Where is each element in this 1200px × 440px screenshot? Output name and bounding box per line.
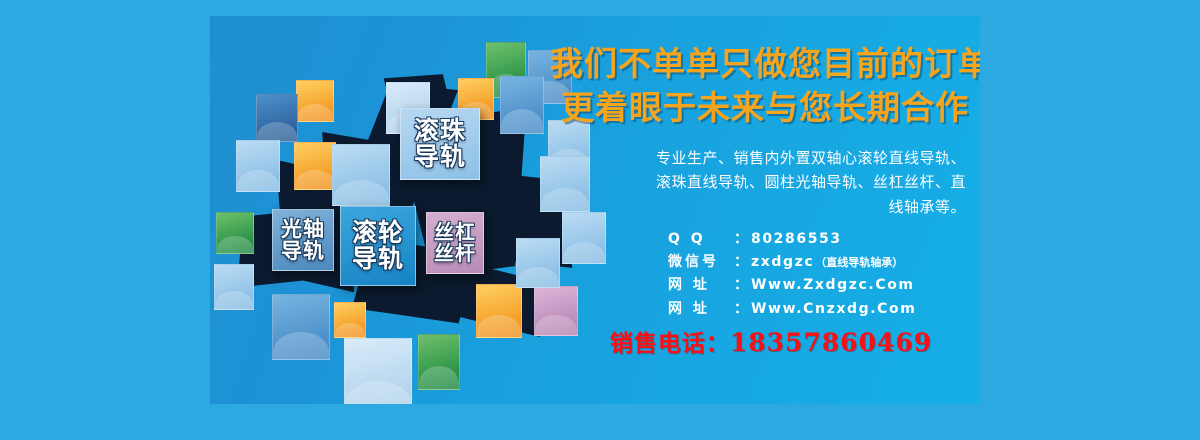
contact-value[interactable]: zxdgzc bbox=[751, 251, 814, 274]
contact-value[interactable]: 80286553 bbox=[751, 228, 842, 251]
cube-face bbox=[418, 334, 460, 390]
banner-copy: 我们不单单只做您目前的订单 更着眼于未来与您长期合作 专业生产、销售内外置双轴心… bbox=[550, 16, 980, 404]
cube-gloss bbox=[501, 109, 543, 133]
contact-row-website-2: 网 址 ： Www.Cnzxdg.Com bbox=[668, 298, 980, 321]
cube-gloss bbox=[333, 180, 389, 205]
headline-line-1: 我们不单单只做您目前的订单 bbox=[550, 44, 980, 83]
cube-face bbox=[476, 284, 522, 338]
cube-gloss bbox=[237, 170, 279, 191]
contact-row-qq: Q Q ： 80286553 bbox=[668, 228, 980, 251]
description: 专业生产、销售内外置双轴心滚轮直线导轨、 滚珠直线导轨、圆柱光轴导轨、丝杠丝杆、… bbox=[566, 146, 966, 219]
banner-panel: 滚珠 导轨 光轴 导轨 滚轮 导轨 丝杠 丝杆 bbox=[210, 16, 980, 404]
cube-face bbox=[296, 80, 334, 122]
cube-gloss bbox=[215, 291, 253, 309]
contact-value[interactable]: Www.Zxdgzc.Com bbox=[751, 274, 915, 297]
decorative-cube bbox=[216, 212, 254, 254]
contact-row-wechat: 微信号 ： zxdgzc （直线导轨轴承） bbox=[668, 251, 980, 274]
product-cube-gunlun-daogui[interactable]: 滚轮 导轨 bbox=[340, 206, 416, 286]
cube-face bbox=[294, 142, 336, 190]
contact-separator: ： bbox=[734, 298, 748, 321]
product-cube-label: 丝杠 丝杆 bbox=[434, 222, 476, 264]
description-line-1: 专业生产、销售内外置双轴心滚轮直线导轨、 bbox=[566, 146, 966, 170]
banner-stage: 滚珠 导轨 光轴 导轨 滚轮 导轨 丝杠 丝杆 bbox=[0, 0, 1200, 440]
cube-gloss bbox=[295, 170, 335, 189]
contact-separator: ： bbox=[734, 228, 748, 251]
cube-gloss bbox=[335, 323, 365, 337]
contact-row-website-1: 网 址 ： Www.Zxdgzc.Com bbox=[668, 274, 980, 297]
cube-gloss bbox=[477, 315, 521, 337]
cube-face bbox=[334, 302, 366, 338]
headline-line-2: 更着眼于未来与您长期合作 bbox=[550, 86, 980, 130]
cube-gloss bbox=[345, 381, 411, 404]
cube-face bbox=[214, 264, 254, 310]
decorative-cube bbox=[344, 338, 412, 404]
product-cube-label: 滚珠 导轨 bbox=[414, 118, 466, 171]
cube-face bbox=[216, 212, 254, 254]
headline: 我们不单单只做您目前的订单 更着眼于未来与您长期合作 bbox=[550, 42, 980, 130]
cube-face bbox=[236, 140, 280, 192]
product-cube-label: 光轴 导轨 bbox=[281, 218, 325, 263]
contact-note: （直线导轨轴承） bbox=[815, 254, 903, 272]
contact-label: Q Q bbox=[668, 228, 734, 251]
contact-separator: ： bbox=[734, 274, 748, 297]
sales-phone-label: 销售电话： bbox=[610, 331, 730, 357]
decorative-cube bbox=[332, 144, 390, 206]
cube-face bbox=[256, 94, 298, 142]
decorative-cube bbox=[256, 94, 298, 142]
sales-phone[interactable]: 销售电话：18357860469 bbox=[566, 324, 976, 358]
cube-gloss bbox=[257, 122, 297, 141]
decorative-cube bbox=[476, 284, 522, 338]
cube-gloss bbox=[297, 104, 333, 121]
product-cube-label: 滚轮 导轨 bbox=[352, 220, 404, 273]
cube-face bbox=[332, 144, 390, 206]
product-cube-gunzhu-daogui[interactable]: 滚珠 导轨 bbox=[400, 108, 480, 180]
contact-separator: ： bbox=[734, 251, 748, 274]
cube-gloss bbox=[419, 366, 459, 389]
decorative-cube bbox=[296, 80, 334, 122]
cube-face bbox=[344, 338, 412, 404]
cube-face bbox=[500, 76, 544, 134]
decorative-cube bbox=[334, 302, 366, 338]
contact-block: Q Q ： 80286553 微信号 ： zxdgzc （直线导轨轴承） 网 址… bbox=[668, 228, 980, 321]
decorative-cube bbox=[294, 142, 336, 190]
contact-label: 网 址 bbox=[668, 274, 734, 297]
contact-value[interactable]: Www.Cnzxdg.Com bbox=[751, 298, 916, 321]
decorative-cube bbox=[272, 294, 330, 360]
sales-phone-number[interactable]: 18357860469 bbox=[730, 328, 932, 357]
cube-gloss bbox=[273, 332, 329, 359]
description-line-3: 线轴承等。 bbox=[566, 195, 966, 219]
product-cube-sigang-sigan[interactable]: 丝杠 丝杆 bbox=[426, 212, 484, 274]
cube-gloss bbox=[217, 236, 253, 253]
decorative-cube bbox=[214, 264, 254, 310]
contact-label: 网 址 bbox=[668, 298, 734, 321]
cube-face bbox=[272, 294, 330, 360]
decorative-cube bbox=[236, 140, 280, 192]
description-line-2: 滚珠直线导轨、圆柱光轴导轨、丝杠丝杆、直 bbox=[566, 170, 966, 194]
contact-label: 微信号 bbox=[668, 251, 734, 274]
product-cube-guangzhou-daogui[interactable]: 光轴 导轨 bbox=[272, 209, 334, 271]
decorative-cube bbox=[418, 334, 460, 390]
decorative-cube bbox=[500, 76, 544, 134]
